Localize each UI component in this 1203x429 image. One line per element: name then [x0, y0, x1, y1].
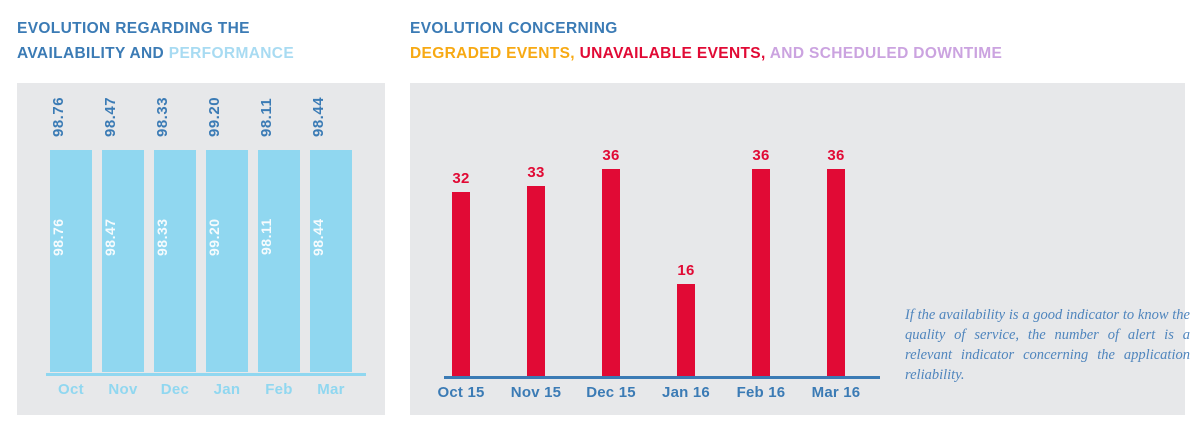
availability-bar-mar[interactable]: 98.4498.44 — [310, 83, 352, 372]
availability-bar-value-inside: 98.76 — [50, 206, 92, 268]
availability-bar-value-above: 99.20 — [206, 84, 248, 150]
events-bar-feb-16[interactable]: 36 — [752, 169, 770, 376]
events-bar-oct-15[interactable]: 32 — [452, 192, 470, 376]
events-bar-value-label: 16 — [663, 262, 709, 279]
events-bar-plot: 323336163636 — [444, 83, 880, 415]
events-bar-rect — [752, 169, 770, 376]
availability-bar-value-above: 98.76 — [50, 84, 92, 150]
availability-category-label: Mar — [310, 381, 352, 398]
events-bar-dec-15[interactable]: 36 — [602, 169, 620, 376]
events-category-label: Feb 16 — [721, 384, 801, 401]
right-title-unavailable-part: UNAVAILABLE EVENTS, — [580, 45, 770, 62]
availability-bar-feb[interactable]: 98.1198.11 — [258, 83, 300, 372]
availability-bar-dec[interactable]: 98.3398.33 — [154, 83, 196, 372]
events-bar-jan-16[interactable]: 16 — [677, 284, 695, 376]
events-category-label: Nov 15 — [496, 384, 576, 401]
availability-bar-oct[interactable]: 98.7698.76 — [50, 83, 92, 372]
right-title-line-1: EVOLUTION CONCERNING — [410, 16, 1002, 41]
availability-category-label: Dec — [154, 381, 196, 398]
availability-bar-value-inside: 98.11 — [258, 206, 300, 268]
left-title-line-2: AVAILABILITY AND PERFORMANCE — [17, 41, 294, 66]
availability-bar-value-inside: 98.44 — [310, 206, 352, 268]
availability-bar-value-above: 98.44 — [310, 84, 352, 150]
availability-bar-jan[interactable]: 99.2099.20 — [206, 83, 248, 372]
events-bar-mar-16[interactable]: 36 — [827, 169, 845, 376]
availability-bar-value-above: 98.47 — [102, 84, 144, 150]
availability-bar-rect: 98.76 — [50, 150, 92, 372]
availability-bar-value-inside: 99.20 — [206, 206, 248, 268]
availability-axis-line — [46, 373, 366, 376]
events-category-label: Jan 16 — [646, 384, 726, 401]
availability-bar-plot: 98.7698.7698.4798.4798.3398.3399.2099.20… — [46, 83, 366, 415]
note-text: If the availability is a good indicator … — [905, 305, 1190, 385]
events-bar-rect — [527, 186, 545, 376]
availability-bar-rect: 98.11 — [258, 150, 300, 372]
right-title-line-2: DEGRADED EVENTS, UNAVAILABLE EVENTS, AND… — [410, 41, 1002, 66]
availability-bar-rect: 99.20 — [206, 150, 248, 372]
events-axis-line — [444, 376, 880, 379]
right-title-degraded-part: DEGRADED EVENTS, — [410, 45, 580, 62]
left-chart-title: EVOLUTION REGARDING THE AVAILABILITY AND… — [17, 16, 294, 66]
right-title-downtime-part: AND SCHEDULED DOWNTIME — [770, 45, 1002, 62]
events-bar-rect — [602, 169, 620, 376]
events-bar-nov-15[interactable]: 33 — [527, 186, 545, 376]
availability-category-label: Jan — [206, 381, 248, 398]
events-bar-value-label: 33 — [513, 164, 559, 181]
events-bar-rect — [827, 169, 845, 376]
left-title-line-1: EVOLUTION REGARDING THE — [17, 16, 294, 41]
availability-bar-nov[interactable]: 98.4798.47 — [102, 83, 144, 372]
events-bar-value-label: 32 — [438, 170, 484, 187]
availability-chart-panel: 98.7698.7698.4798.4798.3398.3399.2099.20… — [17, 83, 385, 415]
availability-category-label: Oct — [50, 381, 92, 398]
availability-bar-rect: 98.44 — [310, 150, 352, 372]
events-chart-panel: 323336163636 If the availability is a go… — [410, 83, 1185, 415]
events-category-label: Dec 15 — [571, 384, 651, 401]
events-category-label: Mar 16 — [796, 384, 876, 401]
left-title-dark-part: AVAILABILITY AND — [17, 45, 169, 62]
availability-bar-rect: 98.33 — [154, 150, 196, 372]
events-bar-value-label: 36 — [588, 147, 634, 164]
events-bar-value-label: 36 — [813, 147, 859, 164]
right-chart-title: EVOLUTION CONCERNING DEGRADED EVENTS, UN… — [410, 16, 1002, 66]
availability-category-label: Nov — [102, 381, 144, 398]
availability-bar-value-inside: 98.47 — [102, 206, 144, 268]
events-bar-rect — [452, 192, 470, 376]
events-bar-rect — [677, 284, 695, 376]
events-bar-value-label: 36 — [738, 147, 784, 164]
availability-bar-value-above: 98.11 — [258, 84, 300, 150]
availability-bar-rect: 98.47 — [102, 150, 144, 372]
availability-bar-value-above: 98.33 — [154, 84, 196, 150]
availability-bar-value-inside: 98.33 — [154, 206, 196, 268]
left-title-light-part: PERFORMANCE — [169, 45, 294, 62]
availability-category-label: Feb — [258, 381, 300, 398]
events-category-label: Oct 15 — [421, 384, 501, 401]
